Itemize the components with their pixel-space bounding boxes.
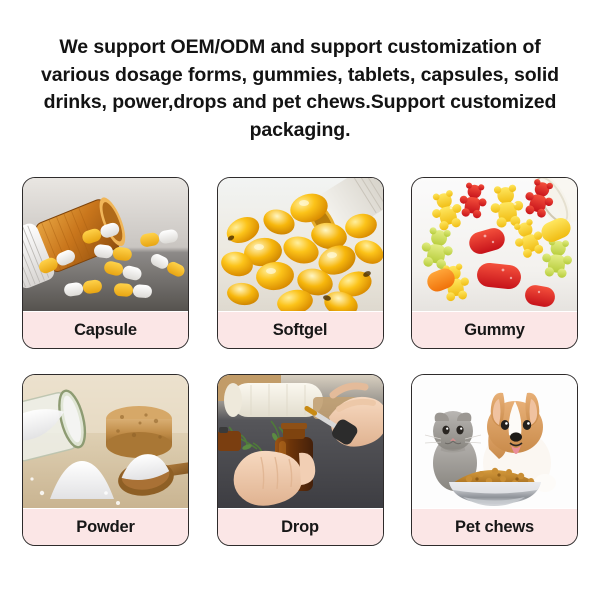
card-label-bar: Powder (23, 509, 188, 545)
card-label-bar: Gummy (412, 312, 577, 348)
dosage-forms-grid: Capsule (22, 177, 578, 546)
form-label-softgel: Softgel (273, 322, 328, 339)
form-card-gummy[interactable]: Gummy (411, 177, 578, 349)
card-label-bar: Capsule (23, 312, 188, 348)
form-label-powder: Powder (76, 519, 134, 536)
form-label-drop: Drop (281, 519, 319, 536)
form-card-softgel[interactable]: Softgel (217, 177, 384, 349)
form-label-capsule: Capsule (74, 322, 137, 339)
capsule-bottle-photo (23, 178, 188, 311)
form-label-gummy: Gummy (464, 322, 524, 339)
card-label-bar: Softgel (218, 312, 383, 348)
product-forms-panel: We support OEM/ODM and support customiza… (0, 0, 600, 600)
page-title: We support OEM/ODM and support customiza… (26, 34, 574, 144)
form-card-drop[interactable]: Drop (217, 374, 384, 546)
gummy-bears-photo (412, 178, 577, 311)
form-card-capsule[interactable]: Capsule (22, 177, 189, 349)
softgel-capsules-photo (218, 178, 383, 311)
form-card-pet-chews[interactable]: Pet chews (411, 374, 578, 546)
card-label-bar: Pet chews (412, 509, 577, 545)
form-label-pet-chews: Pet chews (455, 519, 534, 536)
card-label-bar: Drop (218, 509, 383, 545)
pet-chews-photo (412, 375, 577, 508)
form-card-powder[interactable]: Powder (22, 374, 189, 546)
dropper-bottle-photo (218, 375, 383, 508)
powder-jar-photo (23, 375, 188, 508)
